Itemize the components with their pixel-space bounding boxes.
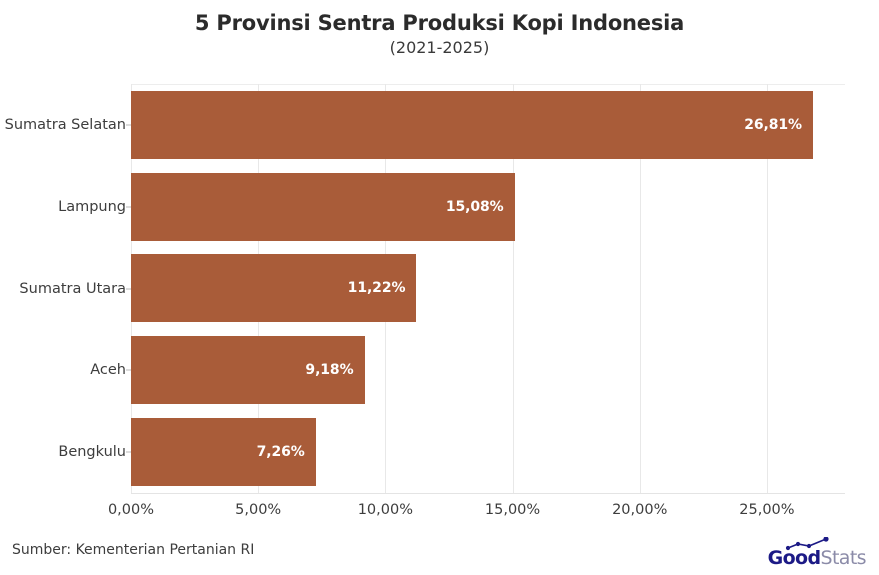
- source-note: Sumber: Kementerian Pertanian RI: [12, 542, 254, 558]
- x-axis-tick-label: 5,00%: [235, 502, 281, 518]
- x-axis-tick-label: 0,00%: [108, 502, 154, 518]
- plot-area: 26,81%15,08%11,22%9,18%7,26%: [131, 84, 845, 493]
- y-axis-tick-mark: [126, 124, 131, 125]
- bar-band: 11,22%: [131, 248, 845, 330]
- y-axis: Sumatra SelatanLampungSumatra UtaraAcehB…: [0, 0, 126, 575]
- bar-band: 9,18%: [131, 329, 845, 411]
- trendline-icon: [785, 537, 831, 551]
- bar[interactable]: 15,08%: [131, 173, 515, 241]
- bar-band: 26,81%: [131, 84, 845, 166]
- y-axis-tick-label: Bengkulu: [0, 444, 126, 460]
- bar-value-label: 15,08%: [446, 199, 504, 215]
- bar[interactable]: 26,81%: [131, 91, 813, 159]
- chart-subtitle: (2021-2025): [0, 37, 879, 59]
- x-axis-tick-label: 20,00%: [612, 502, 667, 518]
- title-block: 5 Provinsi Sentra Produksi Kopi Indonesi…: [0, 10, 879, 59]
- bar[interactable]: 7,26%: [131, 418, 316, 486]
- logo-text: GoodStats: [768, 549, 866, 568]
- bar-value-label: 7,26%: [257, 444, 305, 460]
- bar[interactable]: 9,18%: [131, 336, 365, 404]
- y-axis-tick-mark: [126, 206, 131, 207]
- x-axis-baseline: [131, 493, 845, 494]
- y-axis-tick-mark: [126, 370, 131, 371]
- y-axis-tick-label: Aceh: [0, 362, 126, 378]
- y-axis-tick-label: Sumatra Utara: [0, 281, 126, 297]
- bar-band: 15,08%: [131, 166, 845, 248]
- bar-band: 7,26%: [131, 411, 845, 493]
- bar-value-label: 11,22%: [348, 280, 406, 296]
- goodstats-logo: GoodStats: [768, 538, 866, 568]
- bar-value-label: 26,81%: [744, 117, 802, 133]
- y-axis-tick-mark: [126, 288, 131, 289]
- y-axis-tick-label: Sumatra Selatan: [0, 117, 126, 133]
- y-axis-tick-mark: [126, 452, 131, 453]
- x-axis-tick-label: 25,00%: [739, 502, 794, 518]
- y-axis-tick-label: Lampung: [0, 199, 126, 215]
- x-axis-tick-label: 10,00%: [358, 502, 413, 518]
- bar-value-label: 9,18%: [305, 362, 353, 378]
- page-title: 5 Provinsi Sentra Produksi Kopi Indonesi…: [0, 10, 879, 36]
- x-axis-tick-label: 15,00%: [485, 502, 540, 518]
- bar[interactable]: 11,22%: [131, 254, 416, 322]
